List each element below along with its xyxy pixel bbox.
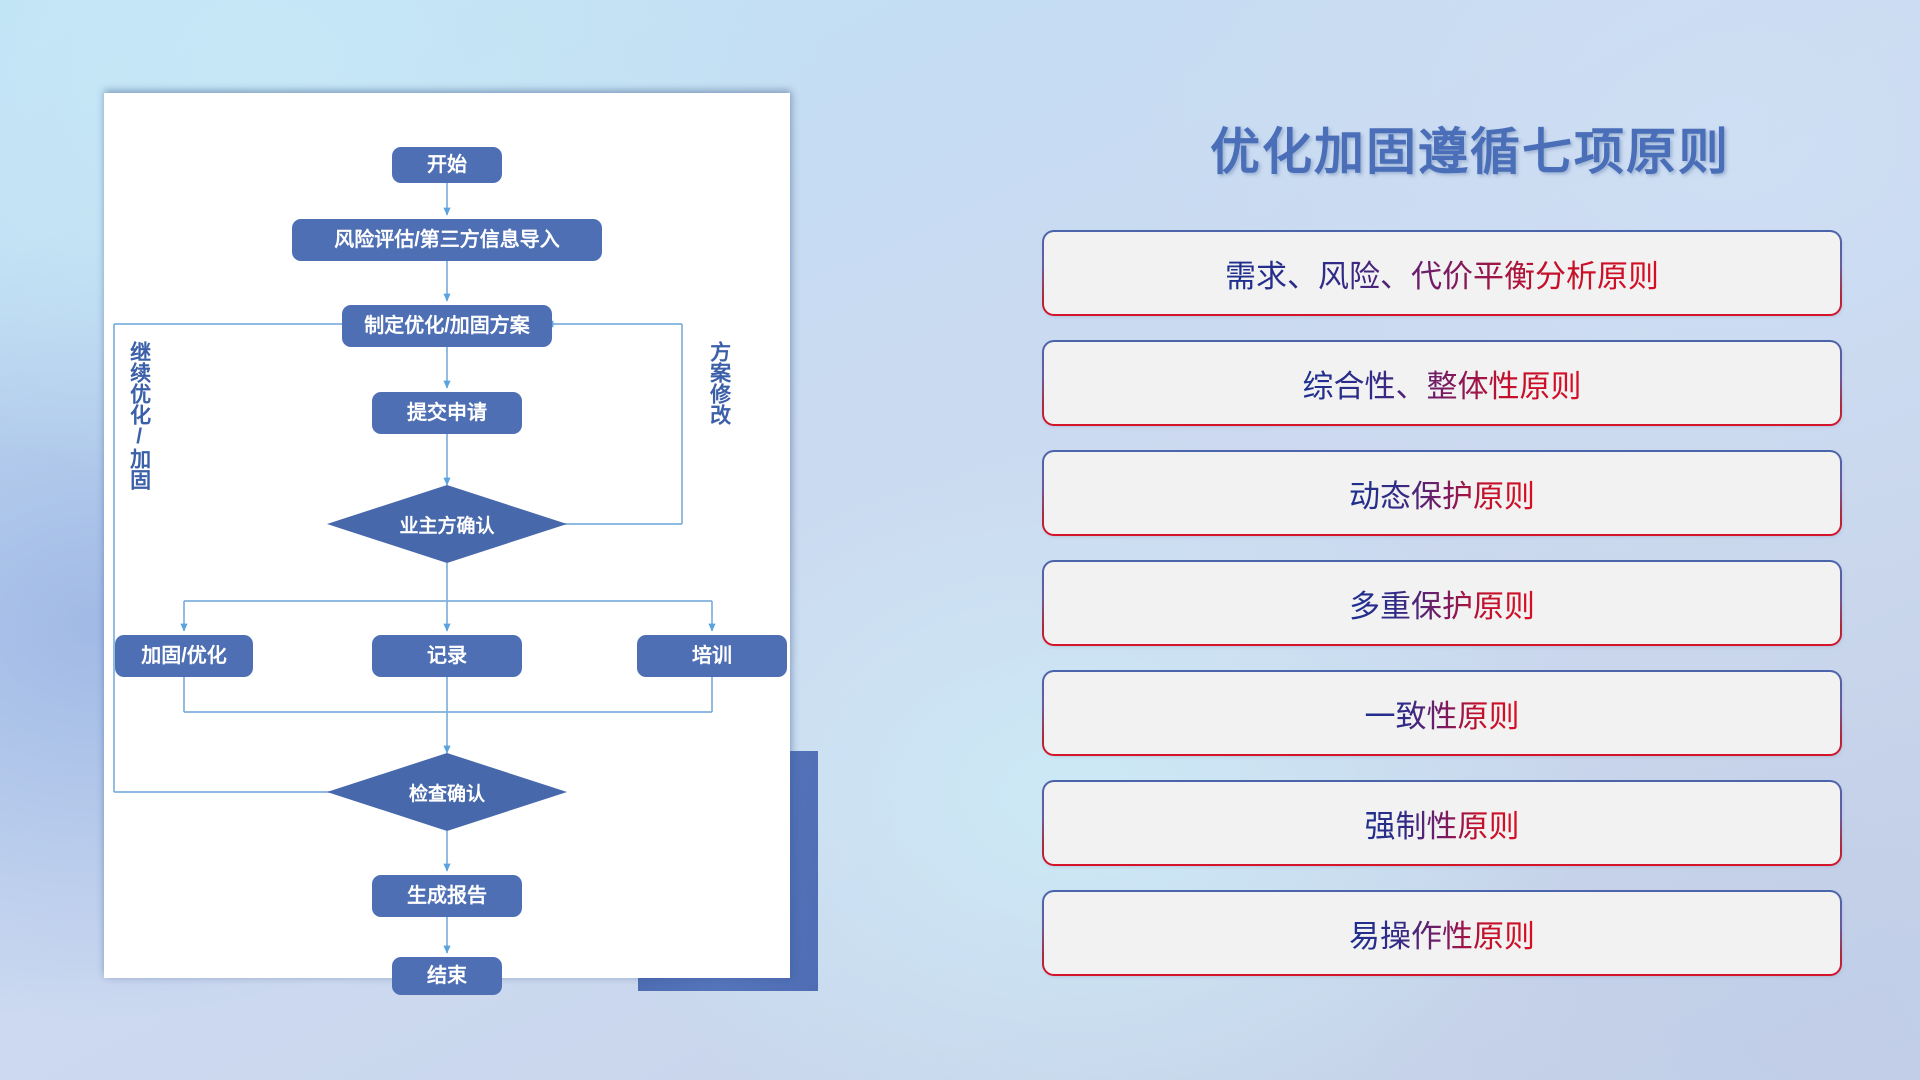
flow-node-owner-confirm[interactable]: 业主方确认 [327, 485, 567, 563]
principle-item[interactable]: 综合性、整体性原则 [1044, 342, 1840, 424]
flow-node-label: 制定优化/加固方案 [364, 315, 530, 337]
principle-label: 需求、风险、代价平衡分析原则 [1225, 251, 1659, 296]
edge-label-plan-revision: 方案修改 [708, 341, 730, 425]
principles-list: 需求、风险、代价平衡分析原则 综合性、整体性原则 动态保护原则 多重保护原则 [1044, 232, 1840, 1002]
principle-box: 综合性、整体性原则 [1044, 342, 1840, 424]
principle-label: 多重保护原则 [1349, 581, 1535, 626]
flow-node-label: 检查确认 [409, 779, 485, 806]
principle-item[interactable]: 易操作性原则 [1044, 892, 1840, 974]
principle-box: 动态保护原则 [1044, 452, 1840, 534]
principle-label: 一致性原则 [1365, 691, 1520, 736]
principle-item[interactable]: 一致性原则 [1044, 672, 1840, 754]
flow-node-label: 业主方确认 [399, 511, 494, 538]
principle-box: 多重保护原则 [1044, 562, 1840, 644]
principle-box: 易操作性原则 [1044, 892, 1840, 974]
flow-node-label: 记录 [427, 645, 467, 667]
flow-node-risk-assessment[interactable]: 风险评估/第三方信息导入 [292, 219, 602, 261]
principle-box: 需求、风险、代价平衡分析原则 [1044, 232, 1840, 314]
flow-node-start[interactable]: 开始 [392, 147, 502, 183]
flow-node-label: 培训 [692, 645, 732, 667]
flow-node-label: 加固/优化 [141, 645, 227, 667]
principle-item[interactable]: 需求、风险、代价平衡分析原则 [1044, 232, 1840, 314]
flow-node-make-plan[interactable]: 制定优化/加固方案 [342, 305, 552, 347]
flow-node-label: 开始 [427, 154, 467, 176]
principle-label: 综合性、整体性原则 [1303, 361, 1582, 406]
principle-item[interactable]: 强制性原则 [1044, 782, 1840, 864]
principles-title: 优化加固遵循七项原则 [1020, 112, 1920, 184]
flow-node-label: 结束 [427, 965, 467, 987]
principle-label: 强制性原则 [1365, 801, 1520, 846]
principle-label: 易操作性原则 [1349, 911, 1535, 956]
flow-node-label: 生成报告 [407, 885, 487, 907]
flow-node-end[interactable]: 结束 [392, 957, 502, 995]
flowchart-card: 开始 风险评估/第三方信息导入 制定优化/加固方案 提交申请 业主方确认 加固/… [104, 93, 790, 978]
flow-node-label: 提交申请 [407, 402, 487, 424]
principle-label: 动态保护原则 [1349, 471, 1535, 516]
principle-box: 强制性原则 [1044, 782, 1840, 864]
flow-node-record[interactable]: 记录 [372, 635, 522, 677]
flow-node-label: 风险评估/第三方信息导入 [334, 229, 560, 251]
flow-node-training[interactable]: 培训 [637, 635, 787, 677]
principle-item[interactable]: 动态保护原则 [1044, 452, 1840, 534]
flow-node-generate-report[interactable]: 生成报告 [372, 875, 522, 917]
slide-canvas: 开始 风险评估/第三方信息导入 制定优化/加固方案 提交申请 业主方确认 加固/… [0, 0, 1920, 1080]
principle-item[interactable]: 多重保护原则 [1044, 562, 1840, 644]
flow-node-submit-application[interactable]: 提交申请 [372, 392, 522, 434]
flow-node-check-confirm[interactable]: 检查确认 [327, 753, 567, 831]
principle-box: 一致性原则 [1044, 672, 1840, 754]
principles-pane: 优化加固遵循七项原则 需求、风险、代价平衡分析原则 综合性、整体性原则 动态保护… [1020, 0, 1920, 1080]
flow-node-reinforce-optimize[interactable]: 加固/优化 [115, 635, 253, 677]
edge-label-continue-optimize: 继续优化/加固 [128, 341, 150, 490]
